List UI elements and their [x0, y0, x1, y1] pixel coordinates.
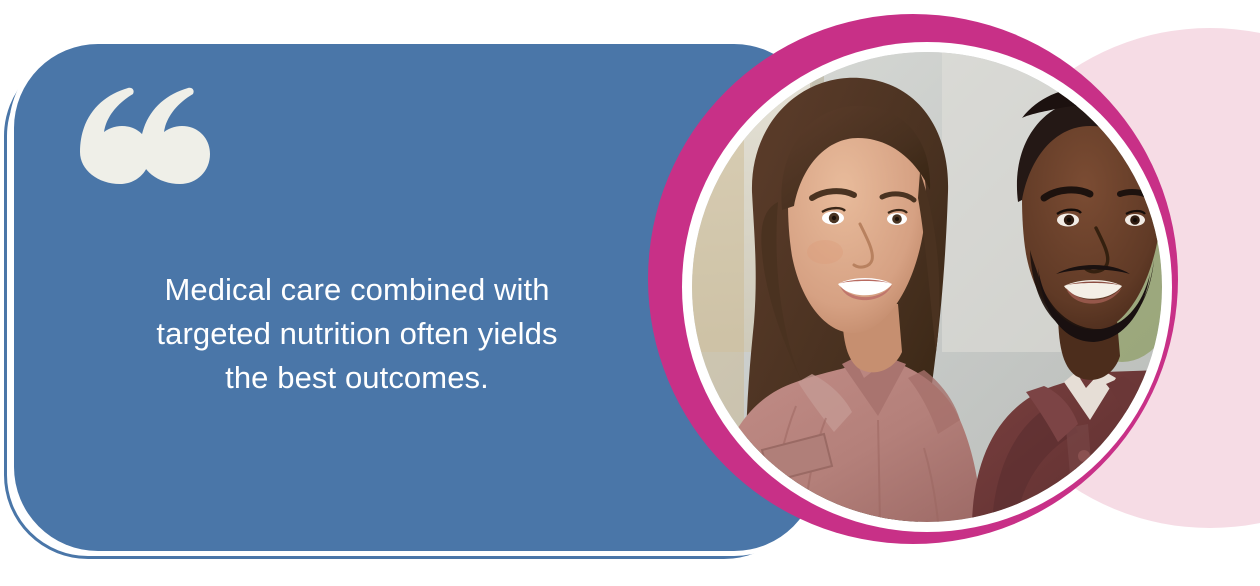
testimonial-banner: Medical care combined with targeted nutr…	[0, 0, 1260, 586]
portrait-photo	[692, 52, 1162, 522]
quote-text: Medical care combined with targeted nutr…	[62, 268, 652, 400]
quote-mark-icon	[70, 84, 210, 204]
quote-card-content: Medical care combined with targeted nutr…	[14, 44, 674, 551]
quote-line-3: the best outcomes.	[62, 356, 652, 400]
quote-line-2: targeted nutrition often yields	[62, 312, 652, 356]
testimonial-media	[630, 0, 1260, 586]
quote-line-1: Medical care combined with	[62, 268, 652, 312]
